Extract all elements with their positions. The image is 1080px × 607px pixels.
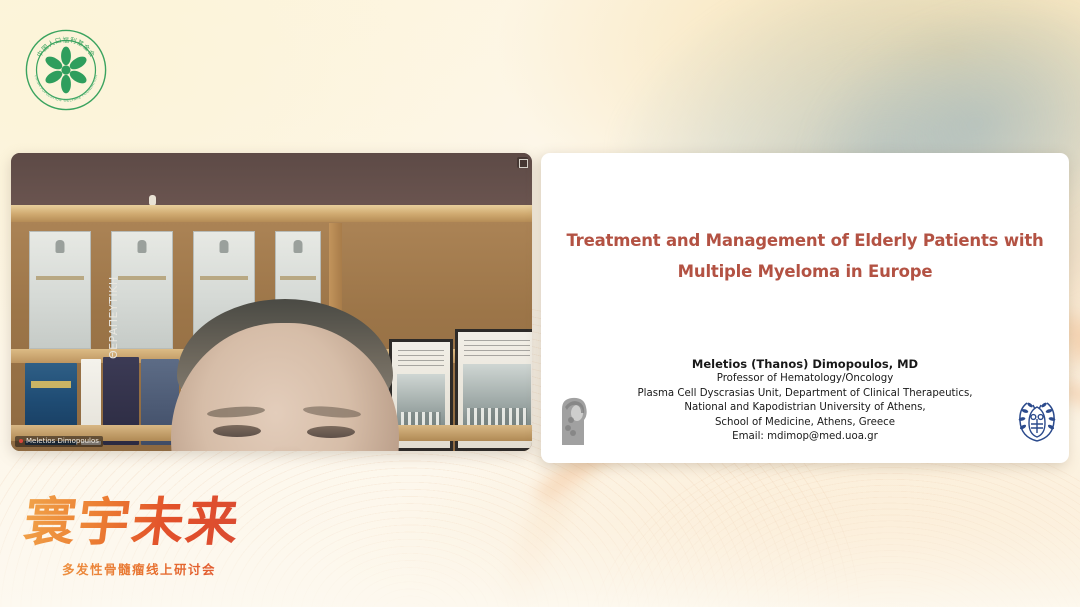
presentation-slide[interactable]: Treatment and Management of Elderly Pati…: [541, 153, 1069, 463]
athena-bust-seal-icon: [551, 393, 597, 449]
owl-laurel-wreath-seal-icon: [1015, 397, 1059, 445]
video-wall: [11, 153, 532, 209]
slide-author-affiliation-1: Professor of Hematology/Oncology: [590, 372, 1020, 387]
organisation-logo: 中国人口福利基金会 CHINA POPULATION WELFARE FOUND…: [22, 26, 110, 114]
slide-title-line-2: Multiple Myeloma in Europe: [678, 262, 933, 281]
event-title-cn: 寰宇未来: [20, 492, 256, 554]
speaker-eye-left: [213, 425, 261, 437]
event-logo: 寰宇未来 多发性骨髓瘤线上研讨会: [24, 492, 252, 588]
speaker-eye-right: [307, 426, 355, 438]
slide-author-block: Meletios (Thanos) Dimopoulos, MD Profess…: [590, 356, 1020, 445]
video-frame-caption: [398, 350, 444, 368]
recording-dot-icon: [19, 439, 23, 443]
slide-author-name: Meletios (Thanos) Dimopoulos, MD: [590, 356, 1020, 372]
video-participant-name: Meletios Dimopoulos: [26, 437, 99, 445]
slide-author-email: Email: mdimop@med.uoa.gr: [590, 430, 1020, 445]
slide-title: Treatment and Management of Elderly Pati…: [559, 153, 1051, 287]
slide-title-line-1: Treatment and Management of Elderly Pati…: [566, 231, 1043, 250]
video-shelf-top: [11, 205, 532, 222]
pin-video-icon[interactable]: [517, 157, 528, 168]
slide-content: Treatment and Management of Elderly Pati…: [541, 153, 1069, 463]
video-frame-caption: [464, 340, 530, 358]
slide-author-affiliation-2: Plasma Cell Dyscrasias Unit, Department …: [590, 387, 1020, 402]
six-petal-flower-icon: [43, 47, 88, 94]
video-certificate: [29, 231, 91, 349]
event-subtitle-cn: 多发性骨髓瘤线上研讨会: [32, 562, 246, 578]
video-book-spine-label: ΘΕΡΑΠΕΥΤΙΚΗ: [107, 271, 137, 359]
slide-author-affiliation-4: School of Medicine, Athens, Greece: [590, 416, 1020, 431]
slide-author-affiliation-3: National and Kapodistrian University of …: [590, 401, 1020, 416]
webinar-stage: 中国人口福利基金会 CHINA POPULATION WELFARE FOUND…: [0, 0, 1080, 607]
speaker-video-feed[interactable]: ΘΕΡΑΠΕΥΤΙΚΗ ΘΕΡΑΠΕΥΤΙΚΗ Meletios Dimopou…: [11, 153, 532, 451]
video-participant-label: Meletios Dimopoulos: [15, 436, 103, 447]
